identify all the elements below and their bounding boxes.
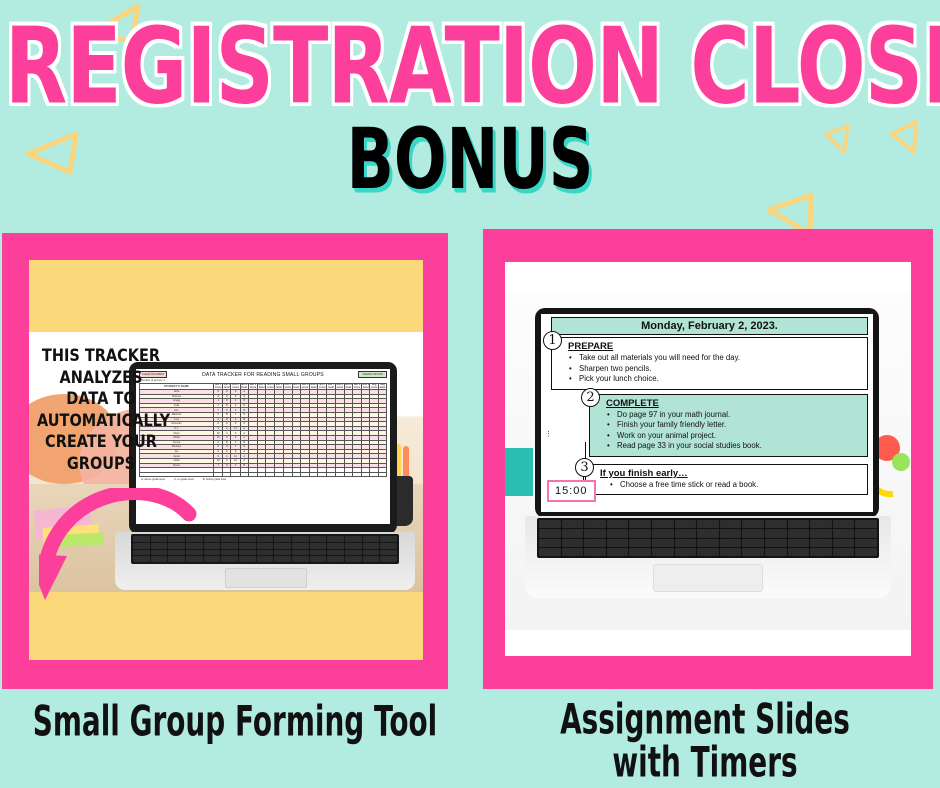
keyboard-key — [584, 520, 606, 528]
list-item: Pick your lunch choice. — [568, 374, 863, 385]
data-cell — [214, 472, 223, 477]
data-cell — [370, 472, 379, 477]
keyboard-key — [562, 520, 584, 528]
keyboard-key — [327, 543, 344, 549]
keyboard-key — [788, 529, 810, 537]
tracker-table: STUDENT'S NAMEtest 1 scoretest 1 levelte… — [139, 383, 387, 477]
section-list: Do page 97 in your math journal.Finish y… — [606, 410, 863, 452]
data-cell — [292, 472, 300, 477]
keyboard-key — [257, 536, 274, 542]
legend-item: A- above grade level — [141, 478, 165, 481]
keyboard-key — [310, 543, 327, 549]
keyboard-key — [274, 556, 291, 562]
keyboard-key — [810, 539, 832, 547]
data-cell — [379, 472, 387, 477]
right-photo: Monday, February 2, 2023. ⋮ 1 PREPARE Ta… — [505, 292, 911, 630]
keyboard-key — [221, 556, 238, 562]
laptop-lid: Monday, February 2, 2023. ⋮ 1 PREPARE Ta… — [535, 308, 879, 518]
keyboard-key — [765, 548, 787, 556]
keyboard-key — [607, 529, 629, 537]
right-product-card[interactable]: Monday, February 2, 2023. ⋮ 1 PREPARE Ta… — [483, 229, 933, 689]
left-caption: Small Group Forming Tool — [24, 702, 447, 744]
curved-arrow-icon — [39, 488, 209, 618]
column-header: test 1 level — [223, 384, 231, 390]
section-number: 3 — [575, 458, 594, 477]
keyboard-key — [675, 529, 697, 537]
list-item: Sharpen two pencils. — [568, 364, 863, 375]
keyboard-key — [855, 520, 877, 528]
keyboard-key — [221, 543, 238, 549]
keyboard-key — [629, 529, 651, 537]
right-card-inner: Monday, February 2, 2023. ⋮ 1 PREPARE Ta… — [505, 262, 911, 656]
keyboard-key — [652, 548, 674, 556]
keyboard-key — [380, 550, 397, 556]
keyboard-key — [675, 548, 697, 556]
keyboard-key — [310, 556, 327, 562]
keyboard-key — [239, 543, 256, 549]
keyboard-key — [720, 539, 742, 547]
keyboard-key — [327, 550, 344, 556]
keyboard-row — [539, 520, 877, 528]
keyboard-key — [607, 520, 629, 528]
column-header: test 1 score — [214, 384, 223, 390]
spreadsheet-title: DATA TRACKER FOR READING SMALL GROUPS — [170, 372, 355, 378]
timer-display[interactable]: 15:00 — [547, 480, 596, 502]
keyboard-key — [345, 556, 362, 562]
keyboard-row — [539, 529, 877, 537]
slide-section-prepare: 1 PREPARE Take out all materials you wil… — [551, 337, 868, 390]
keyboard-key — [239, 556, 256, 562]
data-cell — [352, 472, 361, 477]
keyboard-key — [788, 548, 810, 556]
keyboard-key — [562, 529, 584, 537]
keyboard-key — [310, 550, 327, 556]
list-item: Read page 33 in your social studies book… — [606, 441, 863, 452]
keyboard-key — [257, 556, 274, 562]
section-heading: COMPLETE — [606, 398, 863, 409]
slide-date: Monday, February 2, 2023. — [551, 317, 868, 335]
section-heading: PREPARE — [568, 341, 863, 352]
laptop-right: Monday, February 2, 2023. ⋮ 1 PREPARE Ta… — [525, 308, 891, 608]
keyboard-key — [327, 556, 344, 562]
keyboard-key — [697, 548, 719, 556]
keyboard-key — [833, 548, 855, 556]
keyboard-key — [257, 543, 274, 549]
keyboard-key — [274, 536, 291, 542]
left-card-inner: CLEAR DOCUMENT DATA TRACKER FOR READING … — [29, 260, 423, 660]
data-cell — [223, 472, 231, 477]
keyboard-key — [327, 536, 344, 542]
section-list: Choose a free time stick or read a book. — [600, 480, 863, 491]
keyboard-key — [810, 529, 832, 537]
column-header: avg score — [370, 384, 379, 390]
section-list: Take out all materials you will need for… — [568, 353, 863, 385]
keyboard-key — [652, 520, 674, 528]
keyboard-key — [607, 539, 629, 547]
keyboard-row — [539, 548, 877, 556]
left-scene: CLEAR DOCUMENT DATA TRACKER FOR READING … — [29, 260, 423, 660]
keyboard-key — [584, 529, 606, 537]
data-cell — [318, 472, 327, 477]
keyboard-key — [584, 548, 606, 556]
laptop-trackpad — [653, 564, 763, 592]
section-heading: If you finish early… — [600, 468, 863, 479]
laptop-trackpad — [225, 568, 307, 588]
section-number: 2 — [581, 388, 600, 407]
keyboard-key — [833, 520, 855, 528]
keyboard-key — [629, 539, 651, 547]
keyboard-key — [742, 520, 764, 528]
keyboard-key — [562, 539, 584, 547]
keyboard-key — [345, 550, 362, 556]
column-header: test 2 score — [231, 384, 240, 390]
keyboard-key — [697, 539, 719, 547]
keyboard-key — [380, 556, 397, 562]
keyboard-key — [274, 543, 291, 549]
table-body: Nora9A9AShamus8O8OGregg1O4BCylie3B3BKim7… — [140, 390, 387, 477]
slide-section-finish-early: 3 If you finish early… Choose a free tim… — [583, 464, 868, 496]
data-cell — [240, 472, 248, 477]
column-header: test 9 level — [362, 384, 370, 390]
keyboard-key — [810, 520, 832, 528]
list-item: Work on your animal project. — [606, 431, 863, 442]
data-cell — [266, 472, 275, 477]
data-cell — [283, 472, 292, 477]
keyboard-key — [720, 520, 742, 528]
data-cell — [335, 472, 344, 477]
keyboard-key — [788, 520, 810, 528]
keyboard-key — [855, 529, 877, 537]
keyboard-key — [310, 536, 327, 542]
keyboard-key — [562, 548, 584, 556]
keyboard-key — [833, 539, 855, 547]
column-header: test 3 score — [248, 384, 257, 390]
laptop-screen: Monday, February 2, 2023. ⋮ 1 PREPARE Ta… — [541, 314, 873, 512]
keyboard-key — [380, 543, 397, 549]
keyboard-key — [697, 529, 719, 537]
keyboard-key — [363, 556, 380, 562]
column-header: test 9 score — [352, 384, 361, 390]
keyboard-key — [720, 529, 742, 537]
keyboard-key — [720, 548, 742, 556]
legend-item: B- below grade level — [203, 478, 227, 481]
data-cell — [344, 472, 352, 477]
slide-bullet-dots: ⋮ — [545, 432, 552, 437]
create-groups-button[interactable]: CREATE GROUPS — [358, 371, 387, 378]
legend-item: O- on grade level — [174, 478, 194, 481]
keyboard-key — [257, 550, 274, 556]
keyboard-key — [675, 520, 697, 528]
keyboard-key — [765, 539, 787, 547]
assignment-slide[interactable]: Monday, February 2, 2023. ⋮ 1 PREPARE Ta… — [541, 314, 873, 512]
keyboard-key — [765, 520, 787, 528]
section-box: PREPARE Take out all materials you will … — [551, 337, 868, 390]
right-scene: Monday, February 2, 2023. ⋮ 1 PREPARE Ta… — [505, 262, 911, 656]
keyboard-key — [539, 529, 561, 537]
keyboard-key — [742, 529, 764, 537]
keyboard-key — [292, 536, 309, 542]
keyboard-key — [292, 556, 309, 562]
keyboard-key — [742, 548, 764, 556]
left-callout-text: THIS TRACKER ANALYZES DATA TO AUTOMATICA… — [37, 346, 165, 475]
data-cell — [300, 472, 309, 477]
keyboard-key — [539, 520, 561, 528]
list-item: Choose a free time stick or read a book. — [600, 480, 863, 491]
keyboard-key — [363, 550, 380, 556]
data-cell — [362, 472, 370, 477]
right-caption: Assignment Slides with Timers — [494, 700, 917, 785]
keyboard-key — [675, 539, 697, 547]
keyboard-key — [697, 520, 719, 528]
keyboard-key — [652, 539, 674, 547]
keyboard-key — [742, 539, 764, 547]
list-item: Finish your family friendly letter. — [606, 420, 863, 431]
legend: A- above grade levelO- on grade levelB- … — [139, 478, 387, 481]
left-product-card[interactable]: CLEAR DOCUMENT DATA TRACKER FOR READING … — [2, 233, 448, 689]
right-caption-line1: Assignment Slides — [494, 700, 917, 742]
header-banner: REGISTRATION CLOSING BONUS — [0, 0, 940, 228]
section-box: COMPLETE Do page 97 in your math journal… — [589, 394, 868, 457]
data-cell — [248, 472, 257, 477]
column-header: test 5 score — [283, 384, 292, 390]
data-cell — [231, 472, 240, 477]
keyboard-key — [810, 548, 832, 556]
column-header: test 8 score — [335, 384, 344, 390]
section-box: If you finish early… Choose a free time … — [583, 464, 868, 496]
keyboard-key — [239, 550, 256, 556]
column-header: avg level — [379, 384, 387, 390]
slide-section-complete: 2 COMPLETE Do page 97 in your math journ… — [589, 394, 868, 457]
column-header: test 4 level — [275, 384, 283, 390]
keyboard-key — [221, 550, 238, 556]
data-cell — [275, 472, 283, 477]
keyboard-row — [539, 539, 877, 547]
group-count-label: Number of groups: 4 — [141, 379, 387, 382]
keyboard-key — [380, 536, 397, 542]
column-header: test 4 score — [266, 384, 275, 390]
keyboard-key — [345, 543, 362, 549]
keyboard-key — [363, 536, 380, 542]
keyboard-key — [292, 550, 309, 556]
section-number: 1 — [543, 331, 562, 350]
keyboard-key — [539, 548, 561, 556]
column-header: test 7 score — [318, 384, 327, 390]
keyboard-key — [584, 539, 606, 547]
page-title: REGISTRATION CLOSING — [5, 14, 936, 121]
keyboard-key — [855, 539, 877, 547]
keyboard-key — [363, 543, 380, 549]
data-cell — [327, 472, 335, 477]
keyboard-key — [292, 543, 309, 549]
data-cell — [258, 472, 266, 477]
keyboard-key — [607, 548, 629, 556]
column-header: test 7 level — [327, 384, 335, 390]
laptop-keyboard — [537, 518, 879, 558]
keyboard-key — [652, 529, 674, 537]
table-row — [140, 472, 387, 477]
data-cell — [310, 472, 318, 477]
keyboard-key — [855, 548, 877, 556]
keyboard-key — [833, 529, 855, 537]
list-item: Do page 97 in your math journal. — [606, 410, 863, 421]
keyboard-key — [539, 539, 561, 547]
column-header: test 6 score — [300, 384, 309, 390]
keyboard-key — [765, 529, 787, 537]
list-item: Take out all materials you will need for… — [568, 353, 863, 364]
keyboard-key — [274, 550, 291, 556]
right-caption-line2: with Timers — [494, 742, 917, 784]
keyboard-key — [221, 536, 238, 542]
page-subtitle: BONUS — [0, 118, 940, 202]
keyboard-key — [629, 548, 651, 556]
keyboard-key — [629, 520, 651, 528]
keyboard-key — [788, 539, 810, 547]
keyboard-key — [345, 536, 362, 542]
keyboard-key — [239, 536, 256, 542]
